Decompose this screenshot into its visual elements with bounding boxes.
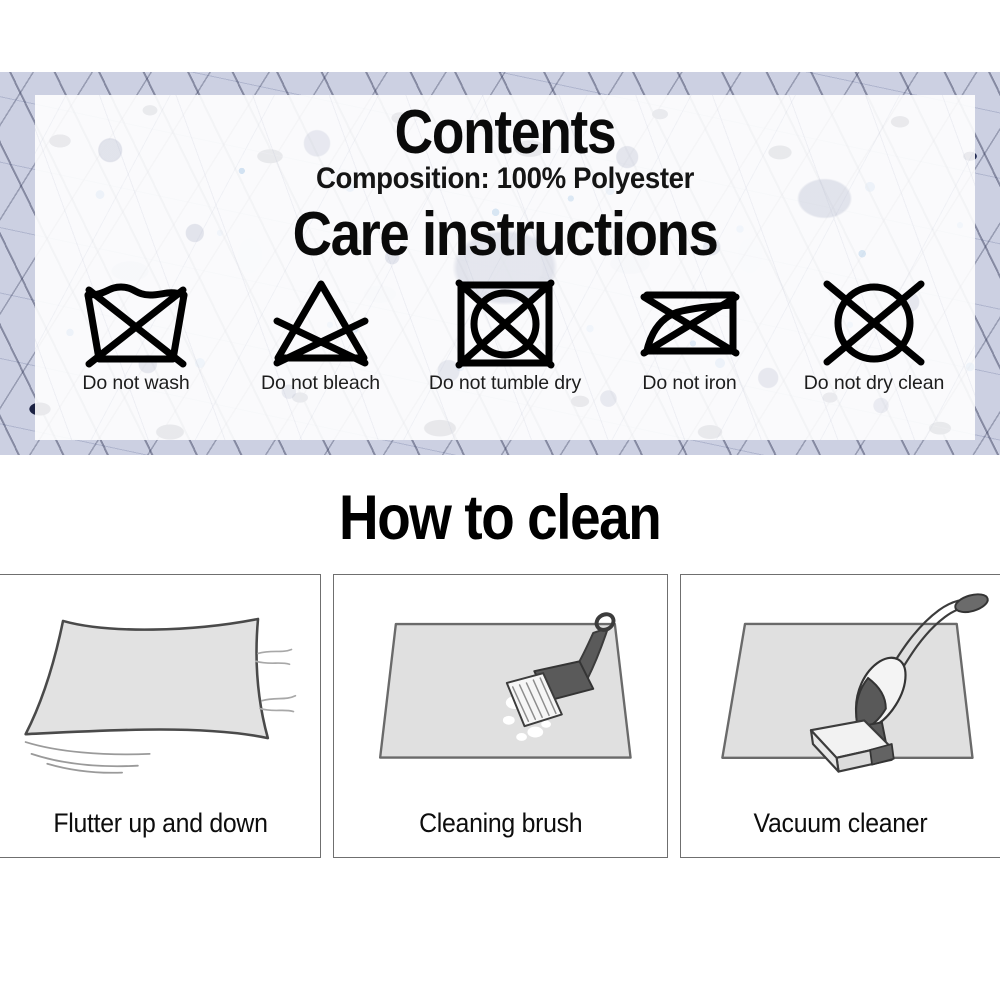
care-symbol-label: Do not tumble dry	[418, 372, 592, 395]
contents-title: Contents	[101, 101, 909, 164]
panel-label: Vacuum cleaner	[681, 808, 1000, 839]
care-symbol-label: Do not wash	[49, 372, 223, 395]
panel-artwork	[681, 575, 1000, 787]
do-not-iron-icon	[630, 273, 750, 371]
care-symbol-do-not-tumble-dry: Do not tumble dry	[418, 273, 592, 395]
panel-label-text: Vacuum cleaner	[754, 808, 928, 839]
care-symbols-row: Do not wash Do not bleach	[35, 267, 975, 395]
how-to-clean-panels: Flutter up and down	[0, 574, 1000, 858]
care-panel-inner-surface: Contents Composition: 100% Polyester Car…	[35, 95, 975, 440]
do-not-dry-clean-icon	[814, 273, 934, 371]
care-symbol-do-not-bleach: Do not bleach	[234, 273, 408, 395]
care-symbol-label: Do not iron	[603, 372, 777, 395]
care-symbol-do-not-dry-clean: Do not dry clean	[787, 273, 961, 395]
do-not-wash-icon	[76, 273, 196, 371]
care-symbol-do-not-wash: Do not wash	[49, 273, 223, 395]
panel-label-text: Flutter up and down	[53, 808, 267, 839]
care-instructions-title: Care instructions	[91, 202, 918, 267]
clean-panel-flutter: Flutter up and down	[0, 574, 321, 858]
care-panel-content: Contents Composition: 100% Polyester Car…	[35, 95, 975, 267]
composition-text: Composition: 100% Polyester	[73, 162, 938, 196]
do-not-bleach-icon	[261, 273, 381, 371]
do-not-tumble-dry-icon	[445, 273, 565, 371]
clean-panel-cleaning-brush: Cleaning brush	[333, 574, 668, 858]
how-to-clean-title: How to clean	[0, 482, 1000, 554]
panel-label-text: Cleaning brush	[419, 808, 582, 839]
panel-label: Flutter up and down	[0, 808, 320, 839]
care-instructions-banner: Contents Composition: 100% Polyester Car…	[0, 72, 1000, 455]
panel-artwork	[334, 575, 667, 787]
care-symbol-label: Do not bleach	[234, 372, 408, 395]
cleaning-brush-icon	[334, 575, 667, 787]
vacuum-cleaner-icon	[681, 575, 1000, 787]
care-symbol-do-not-iron: Do not iron	[603, 273, 777, 395]
panel-label: Cleaning brush	[334, 808, 667, 839]
clean-panel-vacuum-cleaner: Vacuum cleaner	[680, 574, 1000, 858]
how-to-clean-title-text: How to clean	[339, 482, 660, 554]
panel-artwork	[0, 575, 320, 787]
shaking-fabric-icon	[0, 575, 320, 787]
care-symbol-label: Do not dry clean	[787, 372, 961, 395]
